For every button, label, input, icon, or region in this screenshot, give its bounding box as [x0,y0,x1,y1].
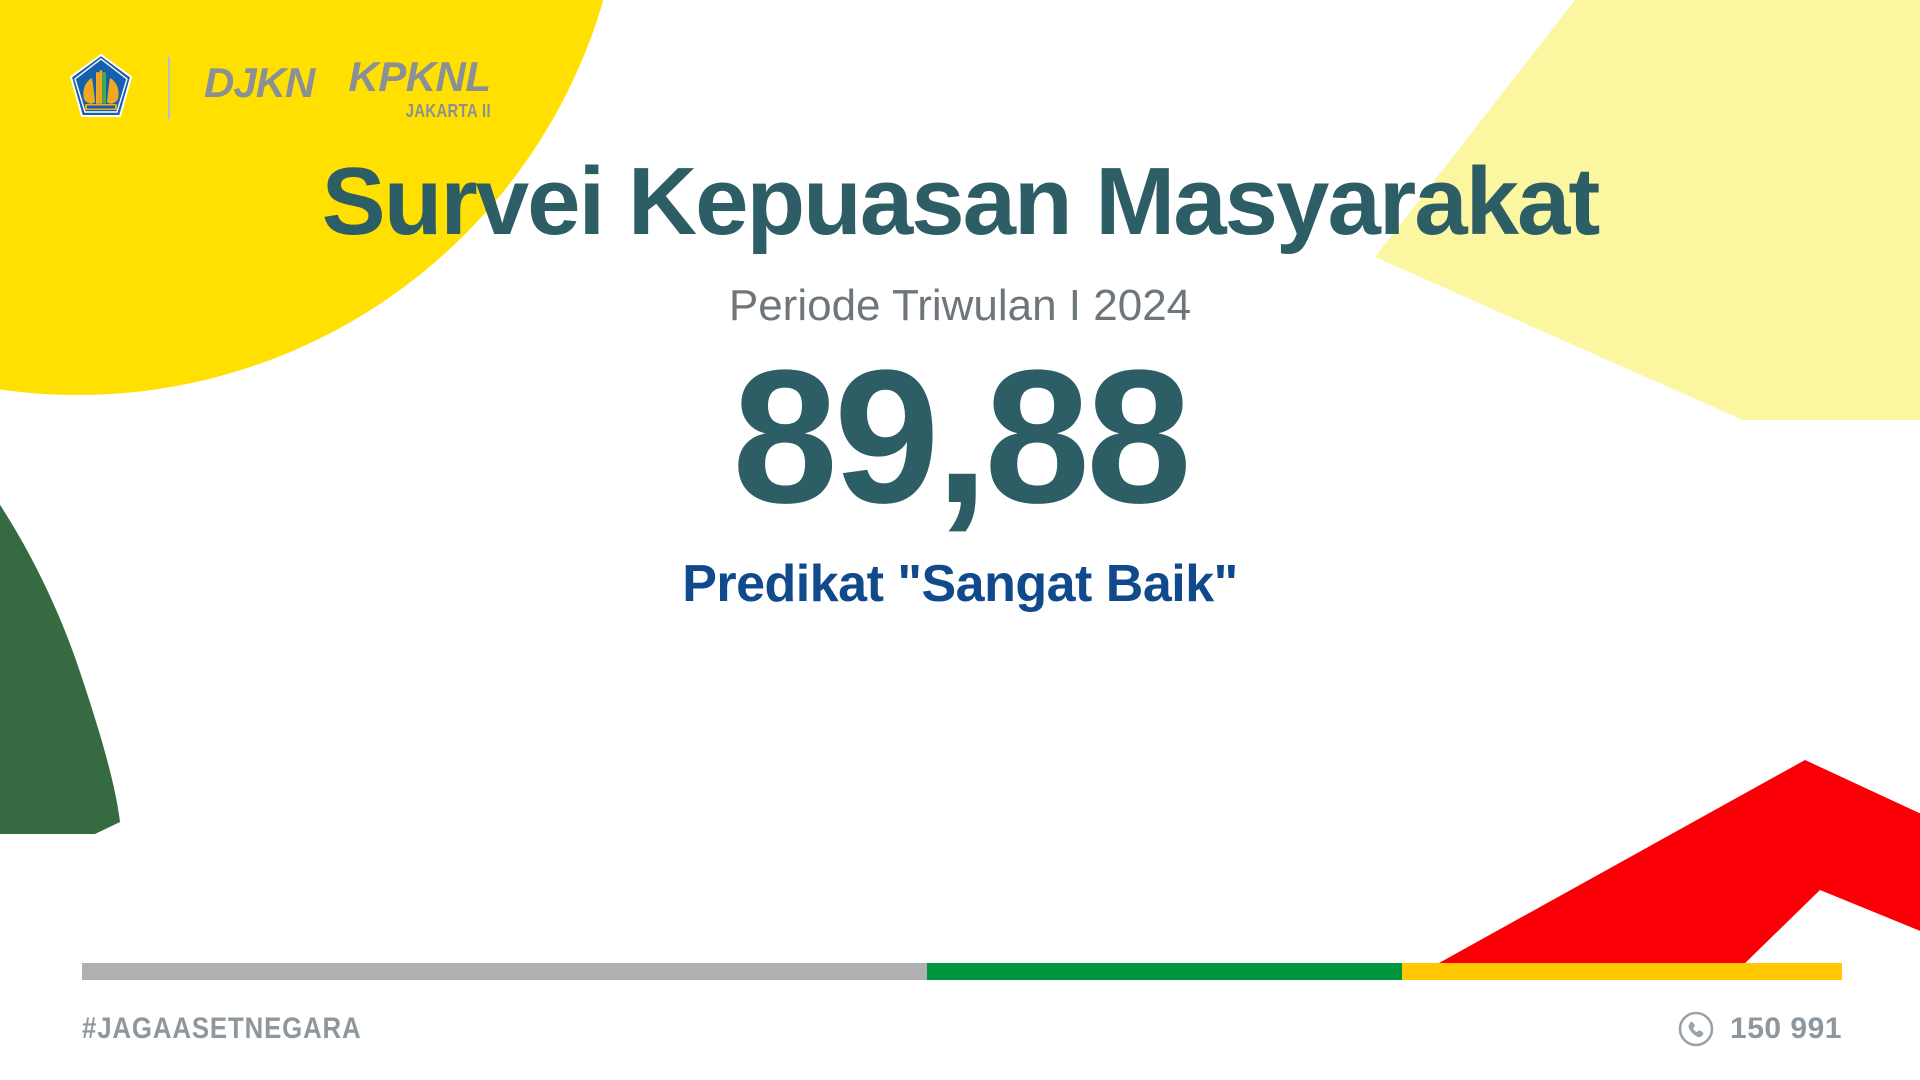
poster-canvas: DJKN KPKNL JAKARTA II Survei Kepuasan Ma… [0,0,1920,1080]
phone-circle-icon [1676,1009,1716,1049]
main-content: Survei Kepuasan Masyarakat Periode Triwu… [0,150,1920,610]
red-chevron-shape [1430,740,1920,990]
kpknl-office-label: JAKARTA II [405,102,490,120]
survey-period: Periode Triwulan I 2024 [0,284,1920,328]
bar-segment-yellow [1402,963,1842,980]
contact-phone-number: 150 991 [1730,1014,1842,1044]
brand-wordmarks: DJKN KPKNL JAKARTA II [204,56,491,120]
kpknl-wordmark: KPKNL [348,56,490,98]
djkn-wordmark: DJKN [204,56,314,104]
brand-header: DJKN KPKNL JAKARTA II [70,52,491,124]
bar-segment-gray [82,963,927,980]
kemenkeu-pentagon-logo [70,54,132,122]
footer-color-bar [82,963,1842,980]
contact-block: 150 991 [1676,1009,1842,1049]
survey-predicate: Predikat "Sangat Baik" [0,558,1920,610]
footer-row: #JAGAASETNEGARA 150 991 [82,1000,1842,1058]
campaign-hashtag: #JAGAASETNEGARA [82,1014,362,1044]
survey-score: 89,88 [0,342,1920,532]
bar-segment-green [927,963,1402,980]
kpknl-wordmark-block: KPKNL JAKARTA II [348,56,490,120]
page-title: Survei Kepuasan Masyarakat [0,150,1920,254]
header-divider [168,57,170,119]
